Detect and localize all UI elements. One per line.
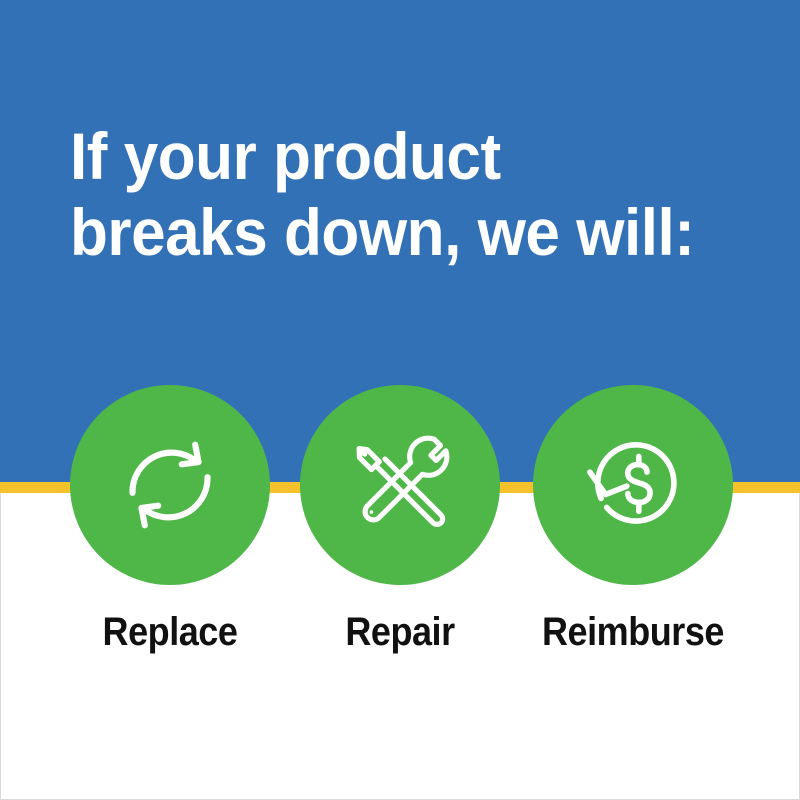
- feature-item-replace[interactable]: [70, 385, 270, 585]
- refresh-cycle-arrows-icon: [114, 429, 226, 541]
- icon-circle: [300, 385, 500, 585]
- promo-card: If your product breaks down, we will:: [0, 0, 800, 800]
- icon-circle: [70, 385, 270, 585]
- feature-item-repair[interactable]: [300, 385, 500, 585]
- feature-icon-row: [0, 385, 800, 585]
- feature-label-repair: Repair: [283, 608, 517, 656]
- feature-item-reimburse[interactable]: [533, 385, 733, 585]
- feature-label-replace: Replace: [53, 608, 287, 656]
- headline-text: If your product breaks down, we will:: [70, 118, 709, 270]
- dollar-return-arrow-icon: [577, 429, 689, 541]
- icon-circle: [533, 385, 733, 585]
- feature-label-row: Replace Repair Reimburse: [0, 608, 800, 660]
- screwdriver-wrench-icon: [344, 429, 456, 541]
- feature-label-reimburse: Reimburse: [516, 608, 750, 656]
